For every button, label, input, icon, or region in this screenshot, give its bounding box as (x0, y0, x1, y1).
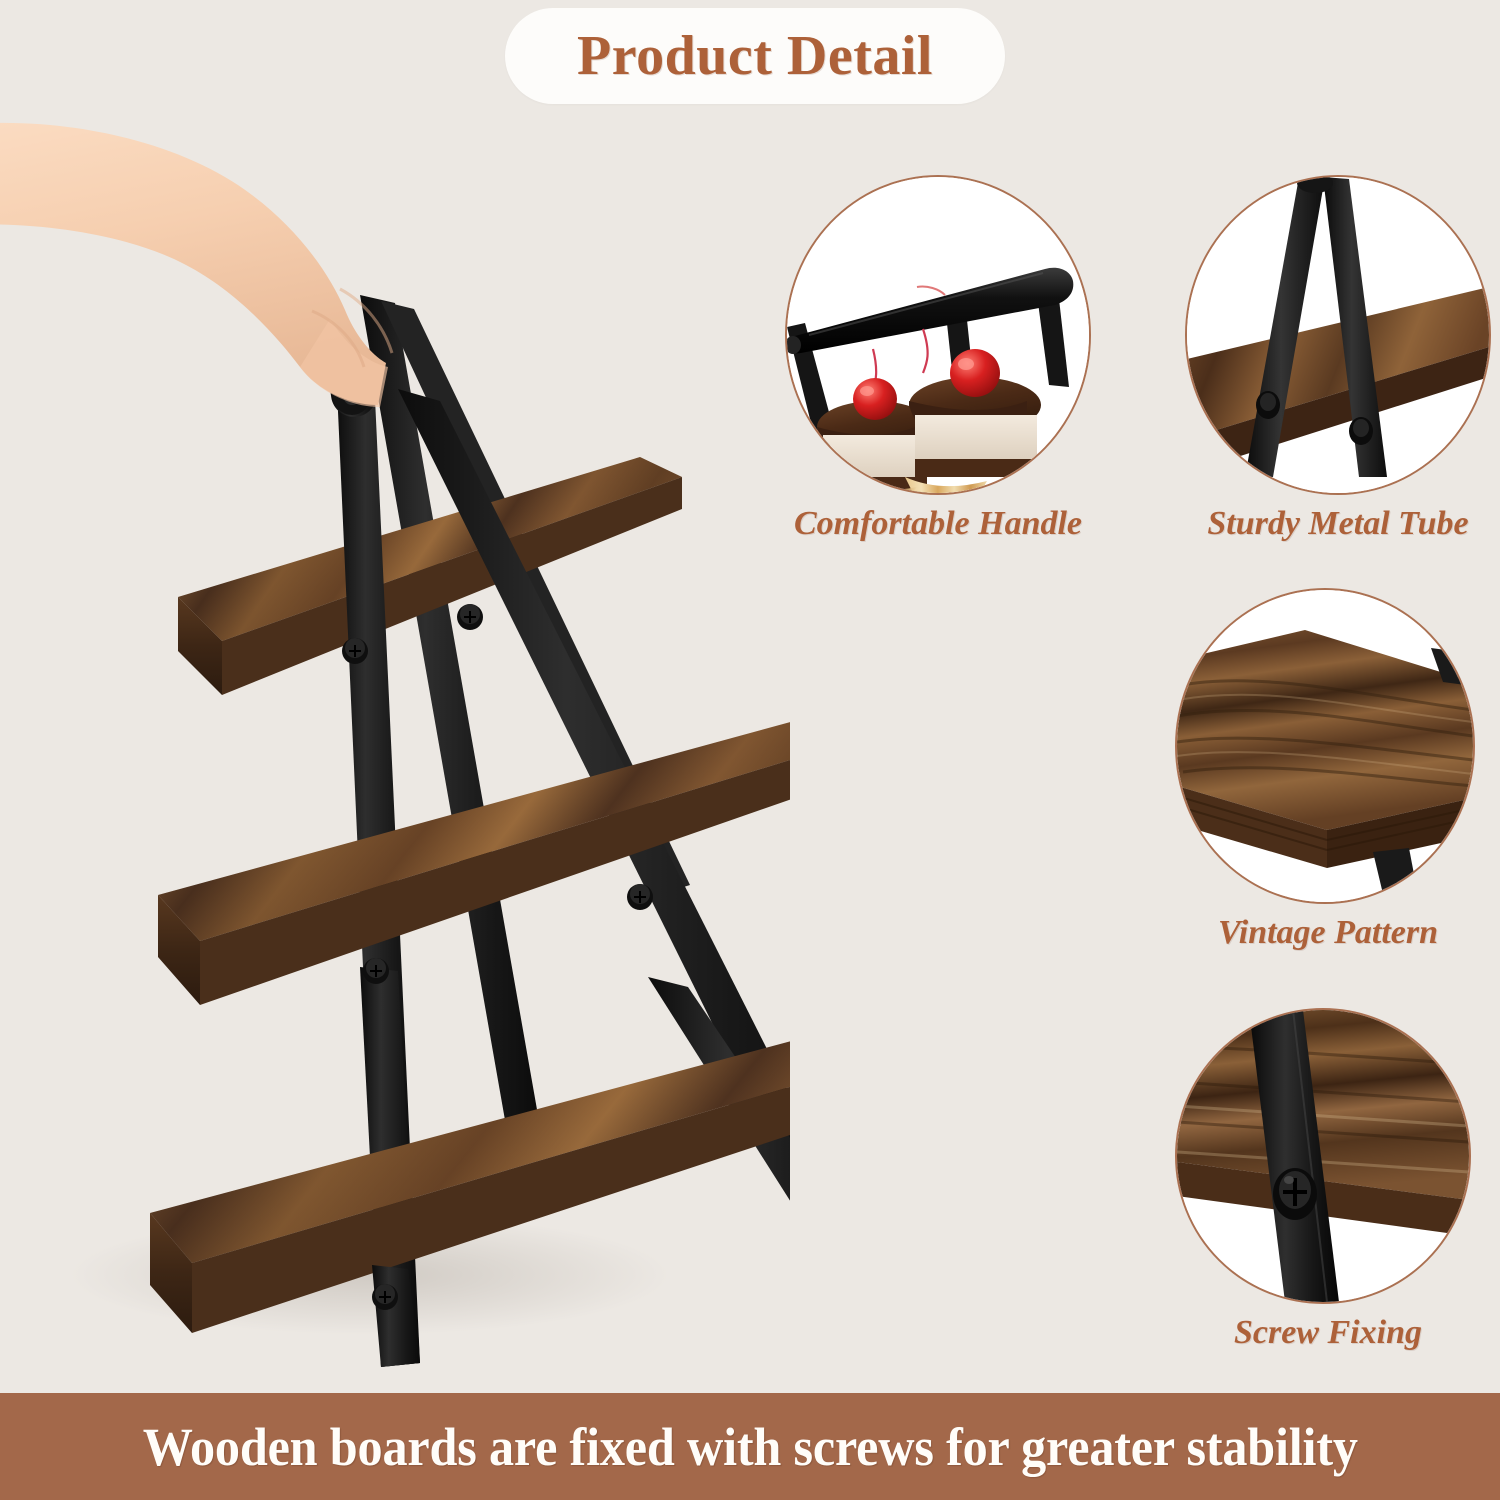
product-detail-page: Product Detail (0, 0, 1500, 1500)
handle-cupcakes-illustration (787, 177, 1089, 493)
hero-illustration (0, 105, 790, 1390)
wood-grain-illustration (1177, 590, 1473, 902)
page-title: Product Detail (577, 24, 933, 88)
rear-metal-frame (360, 293, 660, 1160)
feature-image-handle (785, 175, 1091, 495)
feature-screw-fixing: Screw Fixing (1175, 1008, 1481, 1408)
hand-icon (0, 123, 392, 407)
hero-product-image (0, 105, 790, 1390)
screw-icon (1273, 1168, 1317, 1220)
feature-image-vintage-pattern (1175, 588, 1475, 904)
page-title-pill: Product Detail (505, 8, 1005, 104)
feature-sturdy-metal-tube: Sturdy Metal Tube (1185, 175, 1491, 575)
feature-caption-screw-fixing: Screw Fixing (1175, 1314, 1481, 1352)
banner-text: Wooden boards are fixed with screws for … (142, 1416, 1357, 1478)
bottom-banner: Wooden boards are fixed with screws for … (0, 1393, 1500, 1500)
feature-caption-comfortable-handle: Comfortable Handle (785, 505, 1091, 543)
screw-fixing-illustration (1177, 1010, 1469, 1302)
feature-comfortable-handle: Comfortable Handle (785, 175, 1091, 575)
feature-caption-vintage-pattern: Vintage Pattern (1175, 914, 1481, 952)
feature-vintage-pattern: Vintage Pattern (1175, 588, 1481, 988)
feature-image-screw-fixing (1175, 1008, 1471, 1304)
feature-image-metal-tube (1185, 175, 1491, 495)
feature-caption-sturdy-metal-tube: Sturdy Metal Tube (1185, 505, 1491, 543)
metal-frame-illustration (1187, 177, 1489, 493)
